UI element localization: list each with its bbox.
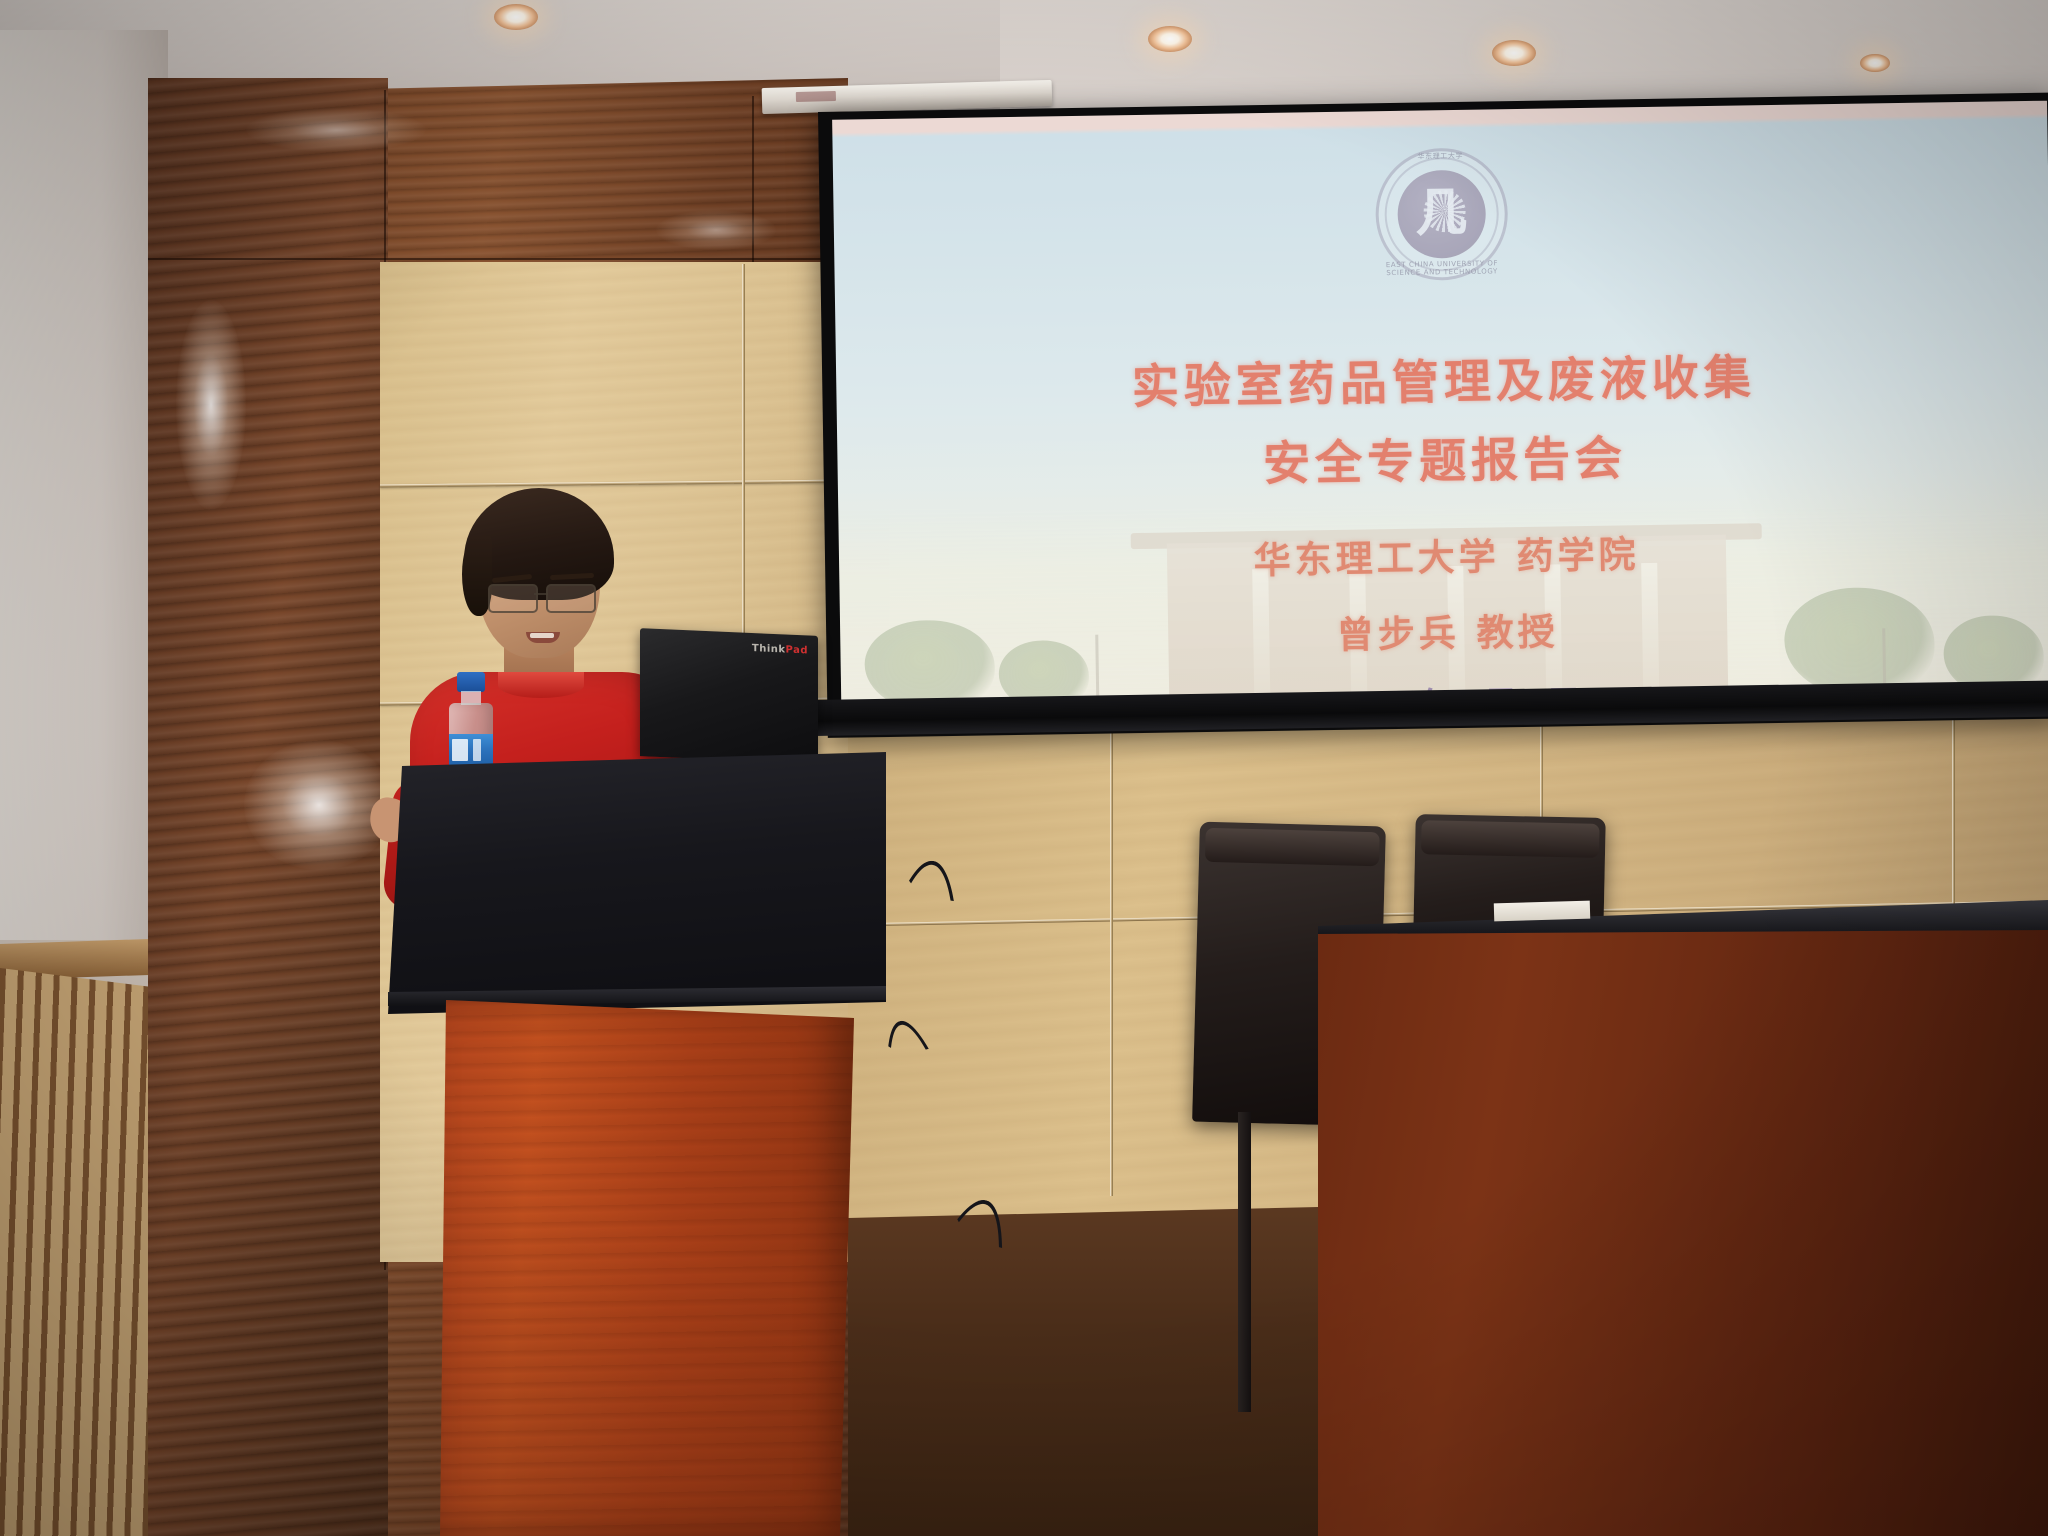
presenter-collar [498, 672, 584, 698]
presenter-teeth [530, 633, 554, 638]
bottle-label-panel-1 [452, 739, 468, 761]
thinkpad-logo: ThinkPad [752, 643, 808, 656]
laptop[interactable]: ThinkPad [640, 628, 818, 764]
slide-title-line-2: 安全专题报告会 [1263, 435, 1628, 488]
photo-scene: 华东理工大学 几 EAST CHINA UNIVERSITY OF SCIENC… [0, 0, 2048, 1536]
downlight-2 [1148, 26, 1192, 52]
dark-wood-panel-left [148, 78, 388, 1536]
glasses-bridge [534, 593, 548, 595]
screen-surface: 华东理工大学 几 EAST CHINA UNIVERSITY OF SCIENC… [832, 101, 2048, 720]
podium-body [440, 1000, 854, 1536]
podium-top-panel [388, 752, 886, 1014]
downlight-3 [1492, 40, 1536, 66]
presenter-glasses [488, 584, 600, 610]
chair-2-crest [1421, 820, 1600, 858]
bottle-label [449, 734, 493, 768]
housing-brand-mark [796, 91, 836, 102]
chair-1-leg [1238, 1112, 1251, 1412]
downlight-1 [494, 4, 538, 30]
glasses-lens-right [546, 584, 596, 613]
wood-seam-horizontal [148, 258, 848, 260]
glasses-lens-left [488, 584, 538, 613]
panel-seam-vertical [742, 264, 745, 684]
slide-affiliation: 华东理工大学 药学院 [1253, 524, 1640, 584]
slide-title-line-1: 实验室药品管理及废液收集 [1131, 354, 1756, 411]
paper-sheet [1494, 901, 1590, 922]
downlight-4 [1860, 54, 1890, 72]
right-wall-vseam-1 [1110, 726, 1113, 1196]
bottle-label-panel-2 [473, 739, 481, 761]
slide-text-block: 实验室药品管理及废液收集 安全专题报告会 华东理工大学 药学院 曾步兵 教授 2… [832, 101, 2048, 720]
bottle-cap [457, 672, 485, 692]
conference-table [1318, 906, 2048, 1536]
slide-presenter: 曾步兵 教授 [1336, 601, 1559, 658]
chair-1-crest [1205, 828, 1380, 867]
projection-screen: 华东理工大学 几 EAST CHINA UNIVERSITY OF SCIENC… [818, 93, 2048, 738]
